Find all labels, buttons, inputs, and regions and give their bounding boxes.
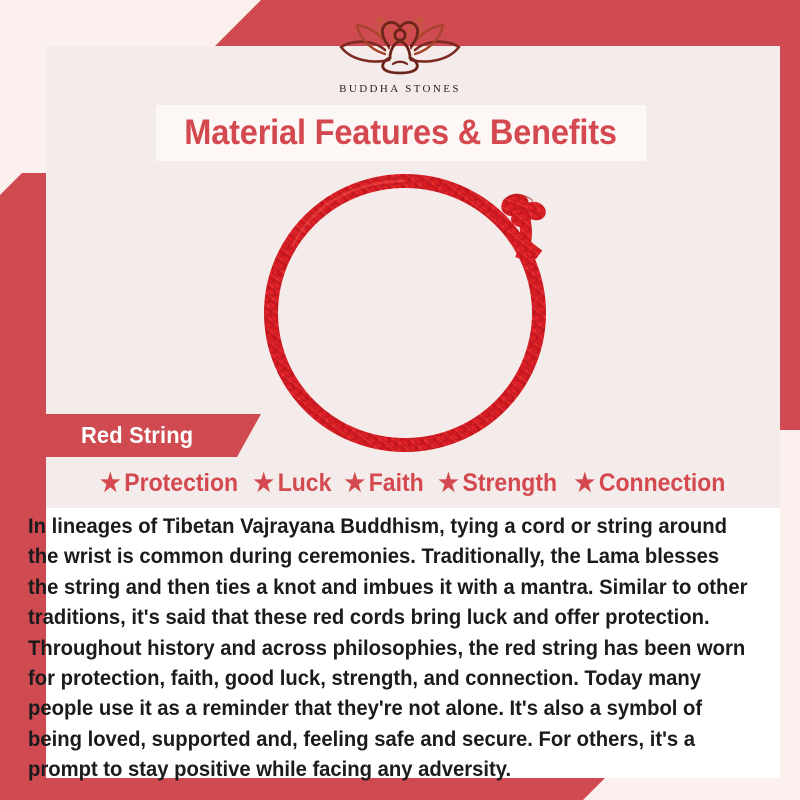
feature-item: ★ Strength xyxy=(435,469,559,498)
infographic-page: BUDDHA STONES Material Features & Benefi… xyxy=(0,0,800,800)
feature-item: ★ Luck xyxy=(251,469,335,498)
star-icon: ★ xyxy=(253,471,274,496)
feature-label: Strength xyxy=(462,469,557,498)
title-banner: Material Features & Benefits xyxy=(156,105,646,161)
feature-label: Protection xyxy=(124,469,238,498)
page-title: Material Features & Benefits xyxy=(185,113,618,153)
material-name-banner: Red String xyxy=(26,414,261,457)
feature-benefits-row: ★ Protection ★ Luck ★ Faith ★ Strength ★… xyxy=(46,462,780,504)
star-icon: ★ xyxy=(100,471,121,496)
star-icon: ★ xyxy=(344,471,365,496)
description-paragraph: In lineages of Tibetan Vajrayana Buddhis… xyxy=(28,512,750,786)
brand-header: BUDDHA STONES xyxy=(0,0,800,105)
material-name: Red String xyxy=(81,422,193,449)
feature-item: ★ Connection xyxy=(572,469,728,498)
feature-label: Faith xyxy=(369,469,424,498)
star-icon: ★ xyxy=(575,471,596,496)
star-icon: ★ xyxy=(438,471,459,496)
feature-label: Luck xyxy=(278,469,332,498)
lotus-meditation-icon xyxy=(327,14,473,81)
feature-item: ★ Faith xyxy=(341,469,426,498)
feature-item: ★ Protection xyxy=(97,469,241,498)
brand-name: BUDDHA STONES xyxy=(339,83,461,95)
feature-label: Connection xyxy=(599,469,726,498)
